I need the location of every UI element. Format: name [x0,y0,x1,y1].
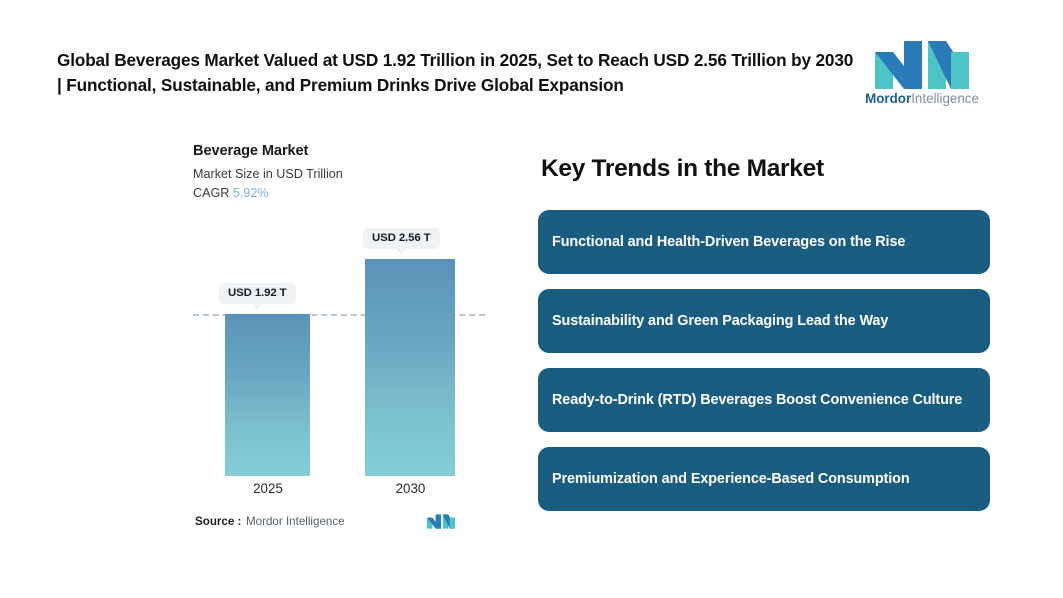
logo-wordmark: MordorIntelligence [862,91,982,106]
trend-card[interactable]: Functional and Health-Driven Beverages o… [538,210,990,274]
bar-2030 [365,259,455,476]
cagr-row: CAGR 5.92% [193,186,493,200]
trends-heading: Key Trends in the Market [541,155,990,183]
trend-card-label: Ready-to-Drink (RTD) Beverages Boost Con… [552,391,962,410]
logo-wordmark-bold: Mordor [865,91,911,106]
brand-logo: MordorIntelligence [862,41,982,109]
source-label: Source : [195,515,241,528]
trend-card[interactable]: Premiumization and Experience-Based Cons… [538,447,990,511]
source-value: Mordor Intelligence [246,515,345,528]
trend-card-label: Premiumization and Experience-Based Cons… [552,470,910,489]
cagr-value: 5.92% [233,186,269,200]
bar-value-label-2030: USD 2.56 T [363,228,440,249]
source-row: Source : Mordor Intelligence [195,513,495,535]
infographic-page: Global Beverages Market Valued at USD 1.… [0,0,1063,598]
bar-value-label-2025: USD 1.92 T [219,283,296,304]
page-title: Global Beverages Market Valued at USD 1.… [57,48,857,98]
mordor-logo-icon [875,41,969,89]
chart-subtitle: Market Size in USD Trillion [193,167,493,181]
bar-2025 [225,314,310,476]
x-axis-tick-2030: 2030 [353,481,468,496]
trend-card-label: Sustainability and Green Packaging Lead … [552,312,888,331]
header: Global Beverages Market Valued at USD 1.… [0,0,1063,120]
trend-card[interactable]: Sustainability and Green Packaging Lead … [538,289,990,353]
trend-card[interactable]: Ready-to-Drink (RTD) Beverages Boost Con… [538,368,990,432]
x-axis-tick-2025: 2025 [213,481,323,496]
bar-chart-plot: USD 1.92 T USD 2.56 T [193,261,493,476]
mordor-logo-small-icon [427,513,455,530]
cagr-label: CAGR [193,186,229,200]
trends-panel: Key Trends in the Market Functional and … [538,155,990,526]
logo-wordmark-light: Intelligence [911,91,979,106]
trend-card-label: Functional and Health-Driven Beverages o… [552,233,905,252]
chart-title: Beverage Market [193,143,493,159]
trend-card-list: Functional and Health-Driven Beverages o… [538,210,990,511]
chart-panel: Beverage Market Market Size in USD Trill… [193,143,493,533]
